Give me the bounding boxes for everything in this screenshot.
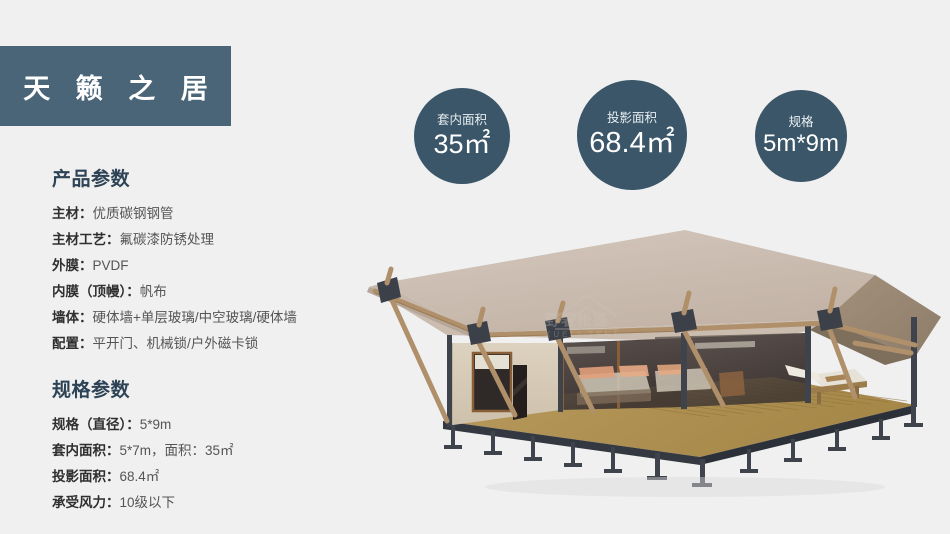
spec-row: 配置：平开门、机械锁/户外磁卡锁: [52, 331, 382, 357]
spec-row: 套内面积：5*7m，面积：35㎡: [52, 438, 382, 464]
spec-row: 外膜：PVDF: [52, 253, 382, 279]
stat-badge-dimensions: 规格 5m*9m: [755, 90, 847, 182]
spec-row: 主材：优质碳钢钢管: [52, 201, 382, 227]
stat-label: 套内面积: [437, 114, 487, 128]
spec-label: 外膜：: [52, 258, 93, 273]
tent-render-image: [355, 225, 950, 525]
specification-parameters-group: 规格参数 规格（直径）：5*9m 套内面积：5*7m，面积：35㎡ 投影面积：6…: [52, 375, 382, 516]
spec-row: 墙体：硬体墙+单层玻璃/中空玻璃/硬体墙: [52, 305, 382, 331]
spec-value: 硬体墙+单层玻璃/中空玻璃/硬体墙: [93, 310, 297, 325]
spec-label: 套内面积：: [52, 443, 120, 458]
spec-label: 投影面积：: [52, 469, 120, 484]
section-heading-product: 产品参数: [52, 164, 382, 191]
stat-label: 规格: [788, 116, 813, 130]
spec-column: 产品参数 主材：优质碳钢钢管 主材工艺：氟碳漆防锈处理 外膜：PVDF 内膜（顶…: [52, 164, 382, 516]
spec-value: 5*7m，面积：35㎡: [120, 443, 234, 458]
product-spec-page: 天 籁 之 居 产品参数 主材：优质碳钢钢管 主材工艺：氟碳漆防锈处理 外膜：P…: [0, 0, 950, 534]
stat-label: 投影面积: [607, 112, 657, 126]
stat-value: 5m*9m: [763, 131, 839, 156]
spec-label: 主材工艺：: [52, 232, 120, 247]
spec-value: 10级以下: [120, 495, 176, 510]
spec-label: 配置：: [52, 336, 93, 351]
spec-label: 主材：: [52, 206, 93, 221]
spec-value: 氟碳漆防锈处理: [120, 232, 215, 247]
spec-row: 规格（直径）：5*9m: [52, 412, 382, 438]
spec-value: 优质碳钢钢管: [93, 206, 174, 221]
spec-value: 平开门、机械锁/户外磁卡锁: [93, 336, 259, 351]
stat-value: 35㎡: [433, 130, 490, 158]
spec-label: 承受风力：: [52, 495, 120, 510]
spec-row: 承受风力：10级以下: [52, 490, 382, 516]
spec-value: PVDF: [93, 258, 129, 273]
product-parameters-group: 产品参数 主材：优质碳钢钢管 主材工艺：氟碳漆防锈处理 外膜：PVDF 内膜（顶…: [52, 164, 382, 357]
title-banner: 天 籁 之 居: [0, 46, 231, 126]
spec-label: 墙体：: [52, 310, 93, 325]
page-title: 天 籁 之 居: [14, 67, 217, 106]
spec-row: 投影面积：68.4㎡: [52, 464, 382, 490]
stat-badge-projected-area: 投影面积 68.4㎡: [577, 80, 687, 190]
spec-row: 内膜（顶幔）：帆布: [52, 279, 382, 305]
stat-value: 68.4㎡: [589, 128, 674, 158]
spec-value: 5*9m: [140, 417, 172, 432]
spec-value: 68.4㎡: [120, 469, 160, 484]
section-heading-spec: 规格参数: [52, 375, 382, 402]
spec-value: 帆布: [140, 284, 167, 299]
stat-badge-interior-area: 套内面积 35㎡: [414, 88, 510, 184]
spec-row: 主材工艺：氟碳漆防锈处理: [52, 227, 382, 253]
spec-label: 内膜（顶幔）：: [52, 284, 140, 299]
spec-label: 规格（直径）：: [52, 417, 140, 432]
